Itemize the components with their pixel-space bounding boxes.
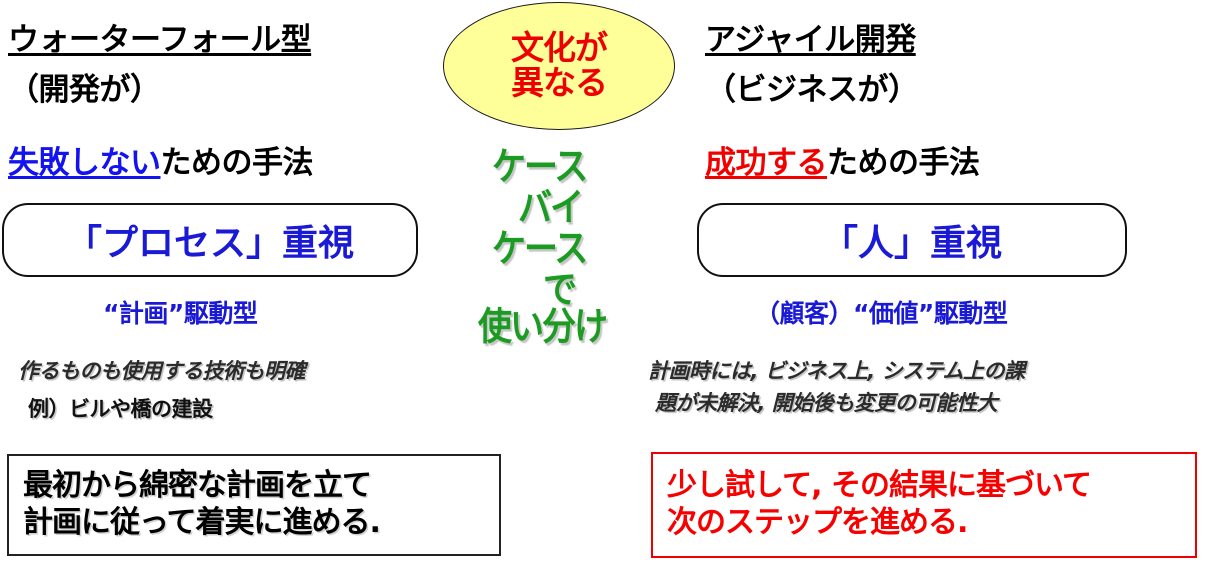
right-column-method-line: 成功するための手法 [705,137,980,182]
right-summary-line-2: 次のステップを進める. [667,505,1195,542]
left-column-heading: ウォーターフォール型 [8,14,311,59]
right-summary-line-1: 少し試して, その結果に基づいて [667,468,1195,505]
left-drive-caption: “計画”駆動型 [103,294,257,330]
left-summary-line-2: 計画に従って着実に進める. [23,505,499,542]
right-note-italic-line-2: 題が未解決, 開始後も変更の可能性大 [655,390,997,417]
green-word-line-5: 使い分け [478,296,606,351]
left-emphasis-box-label: 「プロセス」重視 [66,214,354,266]
right-column-subject: （ビジネスが） [705,64,919,109]
right-column-method-highlight: 成功する [705,145,827,181]
left-column-method-highlight: 失敗しない [8,145,161,181]
culture-difference-ellipse: 文化が 異なる [443,2,675,130]
right-drive-caption: （顧客）“価値”駆動型 [755,294,1007,330]
left-summary-line-1: 最初から綿密な計画を立て [23,468,499,505]
right-column-method-rest: ための手法 [827,145,980,181]
left-note-example: 例）ビルや橋の建設 [28,393,213,423]
left-emphasis-box: 「プロセス」重視 [2,203,418,277]
left-summary-box: 最初から綿密な計画を立て 計画に従って着実に進める. [7,454,501,556]
right-note-italic-line-1: 計画時には, ビジネス上, システム上の課 [648,358,1024,385]
right-summary-box: 少し試して, その結果に基づいて 次のステップを進める. [651,452,1197,558]
left-column-method-rest: ための手法 [161,145,314,181]
ellipse-line-2: 異なる [511,66,607,101]
ellipse-line-1: 文化が [511,31,607,66]
left-column-method-line: 失敗しないための手法 [8,137,313,182]
left-note-italic: 作るものも使用する技術も明確 [18,358,305,385]
right-emphasis-box-label: 「人」重視 [822,214,1002,266]
right-emphasis-box: 「人」重視 [697,203,1127,277]
right-column-heading: アジャイル開発 [705,14,916,59]
left-column-subject: （開発が） [8,64,161,109]
